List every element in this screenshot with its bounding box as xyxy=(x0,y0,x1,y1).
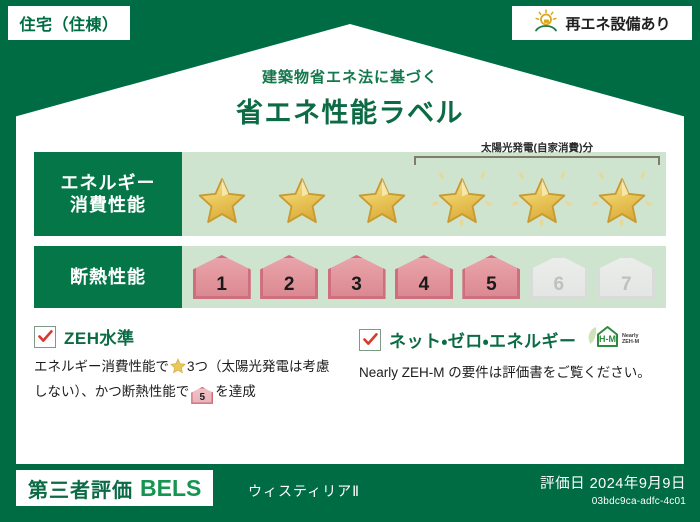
nze-criteria-block: ネット・ゼロ・エネルギー H-M Nearly ZEH-M Nearly ZEH… xyxy=(359,324,666,454)
insulation-performance-row: 断熱性能 1234567 xyxy=(34,246,666,308)
check-icon xyxy=(34,326,56,348)
building-name: ウィスティリアⅡ xyxy=(248,481,360,501)
title-block: 建築物省エネ法に基づく 省エネ性能ラベル xyxy=(16,66,684,130)
zeh-m-house-icon: H-M Nearly ZEH-M xyxy=(587,324,641,355)
zeh-criteria-block: ZEH水準 エネルギー消費性能で3つ（太陽光発電は考慮しない）、かつ断熱性能で5… xyxy=(34,324,341,454)
bels-certification-badge: 第三者評価 BELS xyxy=(16,470,213,506)
evaluation-date: 評価日 2024年9月9日 xyxy=(540,472,686,493)
insulation-grade-badge: 1 xyxy=(193,255,251,299)
zeh-title: ZEH水準 xyxy=(64,324,135,349)
svg-text:ZEH-M: ZEH-M xyxy=(622,339,640,345)
energy-stars-area: 太陽光発電(自家消費)分 xyxy=(182,152,666,236)
third-party-label: 第三者評価 xyxy=(28,474,133,503)
zeh-text-part3: を達成 xyxy=(215,384,256,399)
solar-annotation-label: 太陽光発電(自家消費)分 xyxy=(414,140,660,155)
evaluation-id: 03bdc9ca-adfc-4c01 xyxy=(540,496,686,507)
insulation-performance-label: 断熱性能 xyxy=(34,246,182,308)
title-subtitle: 建築物省エネ法に基づく xyxy=(16,66,684,87)
insulation-grade-badge: 6 xyxy=(530,255,588,299)
insulation-grade-badge: 4 xyxy=(395,255,453,299)
star-icon xyxy=(191,169,253,231)
star-icon xyxy=(271,169,333,231)
insulation-grade-scale: 1234567 xyxy=(182,246,666,308)
insulation-scale-area: 1234567 xyxy=(182,246,666,308)
star-icon xyxy=(351,169,413,231)
nze-description: Nearly ZEH-M の要件は評価書をご覧ください。 xyxy=(359,362,666,384)
check-icon xyxy=(359,329,381,351)
energy-performance-row: エネルギー 消費性能 太陽光発電(自家消費)分 xyxy=(34,152,666,236)
bels-label: BELS xyxy=(140,475,201,502)
renewable-label: 再エネ設備あり xyxy=(565,13,670,34)
star-icon xyxy=(431,169,493,231)
page-title: 省エネ性能ラベル xyxy=(16,91,684,130)
bels-energy-label: 住宅（住棟） 再エネ設備あり 建築物省エネ法に基づく xyxy=(0,0,700,522)
zeh-text-part1: エネルギー消費性能で xyxy=(34,359,169,374)
insulation-grade-badge: 5 xyxy=(462,255,520,299)
star-icon xyxy=(170,362,186,377)
nze-title: ネット・ゼロ・エネルギー xyxy=(389,327,577,352)
criteria-section: ZEH水準 エネルギー消費性能で3つ（太陽光発電は考慮しない）、かつ断熱性能で5… xyxy=(34,324,666,454)
insulation-grade-badge: 2 xyxy=(260,255,318,299)
svg-text:H-M: H-M xyxy=(599,334,616,344)
renewable-equipment-badge: 再エネ設備あり xyxy=(512,6,692,40)
label-panel: 建築物省エネ法に基づく 省エネ性能ラベル エネルギー 消費性能 太陽光発電(自家… xyxy=(16,24,684,464)
inline-grade-badge: 5 xyxy=(191,387,213,404)
zeh-description: エネルギー消費性能で3つ（太陽光発電は考慮しない）、かつ断熱性能で5を達成 xyxy=(34,356,341,404)
energy-performance-label: エネルギー 消費性能 xyxy=(34,152,182,236)
sun-icon xyxy=(533,9,559,37)
insulation-grade-badge: 7 xyxy=(597,255,655,299)
building-type-label: 住宅（住棟） xyxy=(19,11,118,35)
star-rating xyxy=(182,166,662,234)
star-icon xyxy=(511,169,573,231)
building-type-badge: 住宅（住棟） xyxy=(8,6,130,40)
solar-bracket xyxy=(414,156,660,165)
footer: 第三者評価 BELS ウィスティリアⅡ 評価日 2024年9月9日 03bdc9… xyxy=(0,464,700,522)
evaluation-meta: 評価日 2024年9月9日 03bdc9ca-adfc-4c01 xyxy=(540,472,686,507)
star-icon xyxy=(591,169,653,231)
insulation-grade-badge: 3 xyxy=(328,255,386,299)
